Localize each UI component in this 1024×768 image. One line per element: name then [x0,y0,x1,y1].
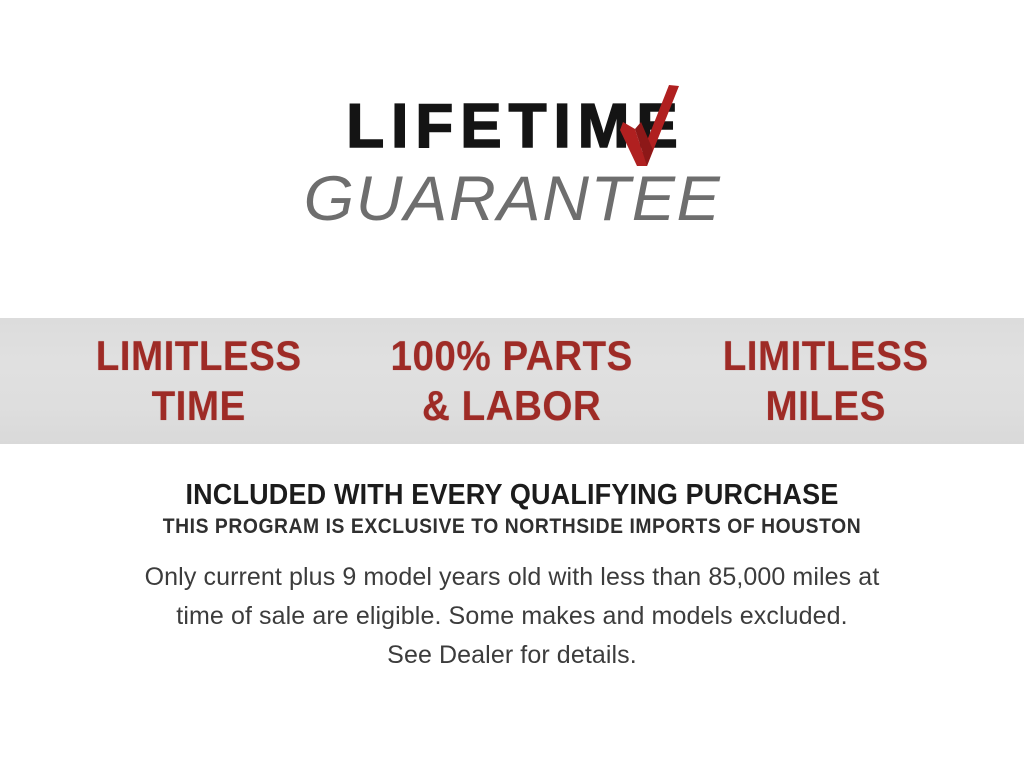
logo-lockup: LIFETIME GUARANTEE [275,96,750,246]
promo-canvas: LIFETIME GUARANTEE LIMITLESS TIME 100% P… [0,0,1024,768]
exclusive-subheadline: THIS PROGRAM IS EXCLUSIVE TO NORTHSIDE I… [41,513,983,540]
benefit-column-limitless-miles: LIMITLESS MILES [681,331,969,431]
benefit-line-2: TIME [55,381,343,431]
benefit-column-limitless-time: LIMITLESS TIME [55,331,343,431]
benefit-line-1: LIMITLESS [681,331,969,381]
disclaimer-paragraph: Only current plus 9 model years old with… [62,558,962,675]
benefit-line-1: LIMITLESS [55,331,343,381]
lifetime-guarantee-logo: LIFETIME GUARANTEE [0,96,1024,246]
disclaimer-line: See Dealer for details. [62,636,962,675]
lower-copy-block: INCLUDED WITH EVERY QUALIFYING PURCHASE … [0,478,1024,675]
disclaimer-line: Only current plus 9 model years old with… [62,558,962,597]
benefit-line-2: & LABOR [368,381,656,431]
benefit-line-1: 100% PARTS [368,331,656,381]
logo-word-guarantee: GUARANTEE [267,168,756,231]
disclaimer-line: time of sale are eligible. Some makes an… [62,597,962,636]
benefit-line-2: MILES [681,381,969,431]
included-headline: INCLUDED WITH EVERY QUALIFYING PURCHASE [36,478,988,512]
benefit-column-parts-labor: 100% PARTS & LABOR [368,331,656,431]
benefits-banner: LIMITLESS TIME 100% PARTS & LABOR LIMITL… [0,318,1024,444]
logo-word-lifetime: LIFETIME [275,96,750,158]
